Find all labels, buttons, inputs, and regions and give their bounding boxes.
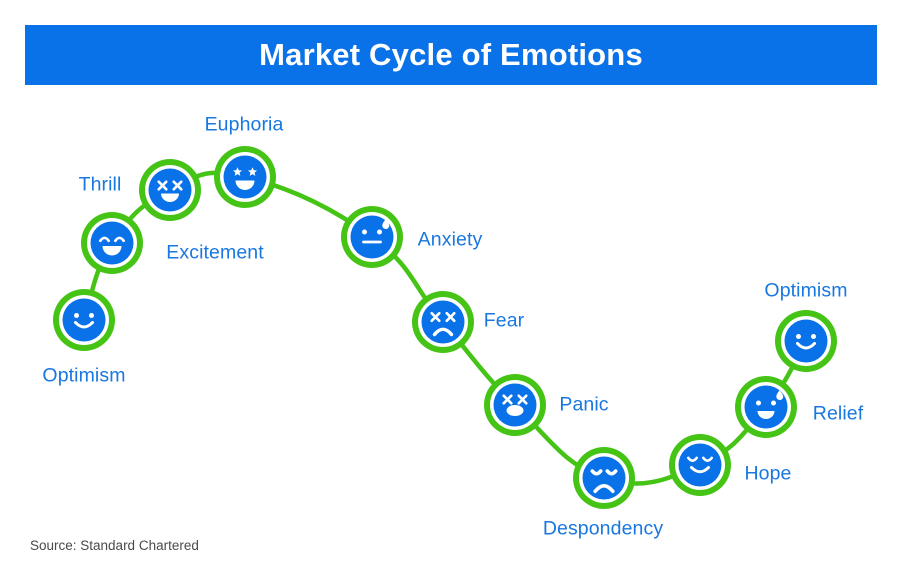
face-x-eyes-open	[490, 380, 540, 430]
emotion-node-thrill-2[interactable]	[139, 159, 201, 221]
emotion-label-optimism-0: Optimism	[42, 365, 125, 388]
face-star-eyes-grin	[220, 152, 270, 202]
emotion-label-relief-9: Relief	[813, 403, 863, 426]
emotion-node-euphoria-3[interactable]	[214, 146, 276, 208]
face-x-eyes-grin	[145, 165, 195, 215]
emotion-label-anxiety-4: Anxiety	[418, 229, 483, 252]
face-calm-smile	[675, 440, 725, 490]
emotion-node-excitement-1[interactable]	[81, 212, 143, 274]
emotion-label-hope-8: Hope	[744, 463, 791, 486]
emotion-label-excitement-1: Excitement	[166, 242, 263, 265]
emotion-node-optimism-0[interactable]	[53, 289, 115, 351]
face-smile-simple	[781, 316, 831, 366]
infographic-canvas: Market Cycle of Emotions OptimismExcitem…	[0, 0, 900, 585]
emotion-label-thrill-2: Thrill	[79, 174, 122, 197]
emotion-node-despondency-7[interactable]	[573, 447, 635, 509]
face-flat-sweat	[347, 212, 397, 262]
face-smile-sweat	[741, 382, 791, 432]
emotion-node-panic-6[interactable]	[484, 374, 546, 436]
emotion-label-euphoria-3: Euphoria	[205, 114, 284, 137]
face-sad-deep	[579, 453, 629, 503]
emotion-node-hope-8[interactable]	[669, 434, 731, 496]
source-note: Source: Standard Chartered	[30, 538, 199, 553]
emotion-node-relief-9[interactable]	[735, 376, 797, 438]
emotion-label-optimism-10: Optimism	[764, 280, 847, 303]
emotion-node-optimism-10[interactable]	[775, 310, 837, 372]
face-x-eyes-frown	[418, 297, 468, 347]
emotion-label-panic-6: Panic	[559, 394, 608, 417]
emotion-label-despondency-7: Despondency	[543, 518, 663, 541]
face-smile-simple	[59, 295, 109, 345]
emotion-node-anxiety-4[interactable]	[341, 206, 403, 268]
face-grin-arc-eyes	[87, 218, 137, 268]
emotion-label-fear-5: Fear	[484, 310, 525, 333]
emotion-node-fear-5[interactable]	[412, 291, 474, 353]
